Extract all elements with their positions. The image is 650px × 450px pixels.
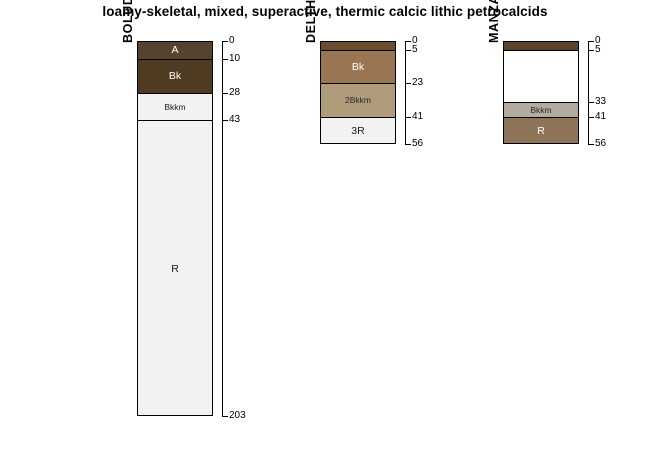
depth-tick-label: 41 — [595, 112, 606, 122]
soil-horizon: Bk — [138, 60, 212, 93]
depth-tick — [405, 117, 411, 118]
depth-tick — [222, 120, 228, 121]
depth-tick — [588, 144, 594, 145]
horizon-label: R — [171, 264, 179, 275]
depth-axis — [405, 41, 406, 144]
horizon-label: A — [171, 45, 178, 56]
depth-axis — [222, 41, 223, 416]
depth-tick-label: 43 — [229, 115, 240, 125]
depth-tick — [588, 102, 594, 103]
soil-horizon: Bk — [504, 51, 578, 103]
depth-tick-label: 0 — [229, 36, 235, 46]
soil-profile-plot: loamy-skeletal, mixed, superactive, ther… — [0, 0, 650, 450]
depth-tick — [222, 93, 228, 94]
depth-tick-label: 41 — [412, 112, 423, 122]
soil-horizon: 2Bkkm — [321, 84, 395, 117]
depth-tick-label: 28 — [229, 88, 240, 98]
depth-tick — [222, 416, 228, 417]
soil-horizon: Bkkm — [138, 94, 212, 122]
horizon-label: 2Bkkm — [345, 96, 371, 105]
depth-tick-label: 10 — [229, 54, 240, 64]
horizon-label: R — [537, 126, 545, 137]
soil-horizon: R — [138, 121, 212, 416]
soil-horizon: A — [138, 42, 212, 60]
soil-horizon: 3R — [321, 118, 395, 145]
horizon-label: Bkkm — [164, 103, 185, 112]
depth-tick-label: 33 — [595, 97, 606, 107]
horizon-label: 3R — [351, 126, 364, 137]
profile-name-label: BOLUDO — [121, 0, 135, 43]
depth-tick-label: 23 — [412, 78, 423, 88]
depth-tick — [222, 41, 228, 42]
horizon-label: Bk — [169, 71, 181, 82]
depth-tick — [405, 50, 411, 51]
depth-tick-label: 56 — [412, 139, 423, 149]
page-title: loamy-skeletal, mixed, superactive, ther… — [0, 4, 650, 19]
depth-tick-label: 5 — [412, 45, 418, 55]
soil-horizon: A — [504, 42, 578, 51]
depth-tick — [405, 144, 411, 145]
depth-axis — [588, 41, 589, 144]
profile-name-label: DELTHORNY — [304, 0, 318, 43]
profile-column: ABkBkkmR — [503, 41, 579, 144]
depth-tick-label: 203 — [229, 411, 246, 421]
soil-horizon: A — [321, 42, 395, 51]
depth-tick — [405, 83, 411, 84]
horizon-label: Bkkm — [530, 106, 551, 115]
depth-tick-label: 5 — [595, 45, 601, 55]
depth-tick — [222, 59, 228, 60]
horizon-label: Bk — [352, 62, 364, 73]
depth-tick — [405, 41, 411, 42]
depth-tick — [588, 117, 594, 118]
soil-horizon: Bk — [321, 51, 395, 84]
profile-column: ABk2Bkkm3R — [320, 41, 396, 144]
depth-tick — [588, 50, 594, 51]
horizon-label: Bk — [535, 71, 547, 82]
soil-horizon: Bkkm — [504, 103, 578, 118]
profile-name-label: MANZANILLO — [487, 0, 501, 43]
depth-tick — [588, 41, 594, 42]
profile-column: ABkBkkmR — [137, 41, 213, 416]
depth-tick-label: 56 — [595, 139, 606, 149]
soil-horizon: R — [504, 118, 578, 145]
